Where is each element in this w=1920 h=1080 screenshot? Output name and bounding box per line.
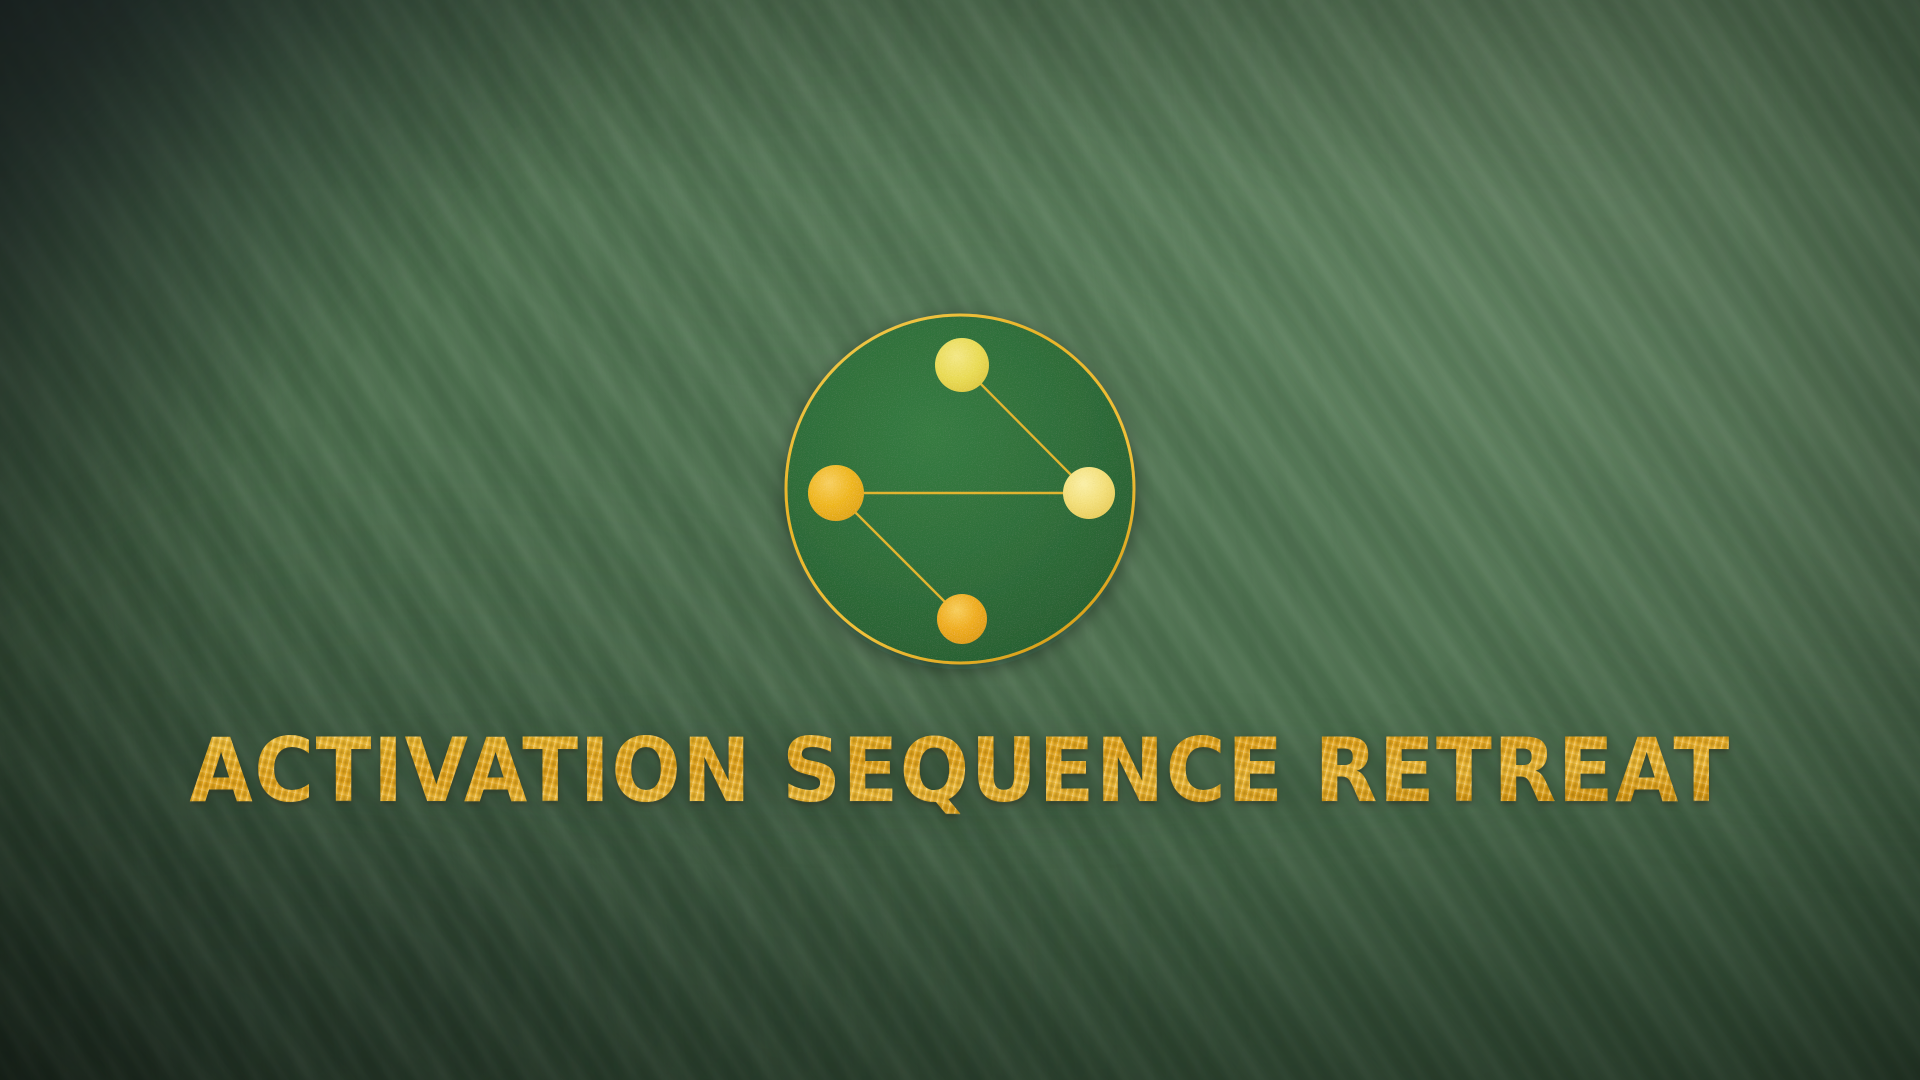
logo-composition: ACTIVATION SEQUENCE RETREAT [0,0,1920,1080]
node-bottom [937,594,987,644]
node-left [808,465,864,521]
network-node-emblem-icon [784,313,1136,665]
logo-canvas: ACTIVATION SEQUENCE RETREAT [0,0,1920,1080]
brand-wordmark-text: ACTIVATION SEQUENCE RETREAT [189,727,1730,815]
node-top [935,338,989,392]
brand-wordmark: ACTIVATION SEQUENCE RETREAT [67,727,1853,815]
node-right [1063,467,1115,519]
